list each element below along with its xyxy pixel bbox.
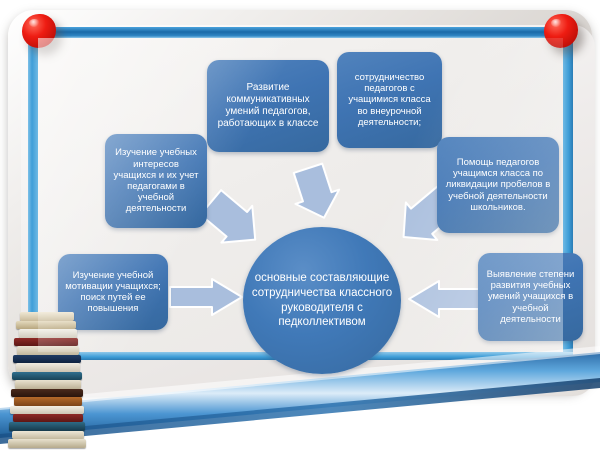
frame-band-left (28, 27, 38, 357)
arrow-from-right-lower-node (405, 280, 485, 320)
book-item (14, 397, 82, 406)
book-item (8, 439, 86, 448)
center-node: основные составляющие сотрудничества кла… (243, 227, 401, 374)
book-item (20, 312, 74, 321)
book-item (16, 363, 80, 372)
arrow-from-bottom-left-node (168, 278, 248, 318)
node-label: Изучение учебных интересов учащихся и их… (111, 147, 201, 214)
node-cooperation-extracurricular[interactable]: сотрудничество педагогов с учащимися кла… (337, 52, 442, 148)
book-item (17, 346, 79, 355)
book-item (13, 355, 81, 363)
book-item (12, 372, 82, 380)
node-label: Выявление степени развития учебных умени… (484, 269, 577, 325)
node-development-communicative[interactable]: Развитие коммуникативных умений педагого… (207, 60, 329, 152)
book-item (10, 406, 84, 414)
book-item (12, 431, 84, 439)
frame-band-top (28, 27, 573, 38)
book-item (19, 329, 77, 338)
book-item (9, 422, 85, 431)
node-skill-development[interactable]: Выявление степени развития учебных умени… (478, 253, 583, 341)
book-item (13, 414, 83, 422)
screenshot-canvas: основные составляющие сотрудничества кла… (0, 0, 600, 451)
node-label: Развитие коммуникативных умений педагого… (213, 82, 323, 129)
book-item (16, 321, 76, 329)
book-item (11, 389, 83, 397)
node-study-interests[interactable]: Изучение учебных интересов учащихся и их… (105, 134, 207, 228)
book-item (14, 338, 78, 346)
node-label: сотрудничество педагогов с учащимися кла… (343, 72, 436, 128)
node-help-gaps[interactable]: Помощь педагогов учащимся класса по ликв… (437, 137, 559, 233)
book-item (15, 380, 81, 389)
node-label: Изучение учебной мотивации учащихся; пои… (64, 270, 162, 315)
node-label: Помощь педагогов учащимся класса по ликв… (443, 157, 553, 213)
books-stack (4, 312, 90, 448)
center-node-label: основные составляющие сотрудничества кла… (243, 271, 401, 330)
